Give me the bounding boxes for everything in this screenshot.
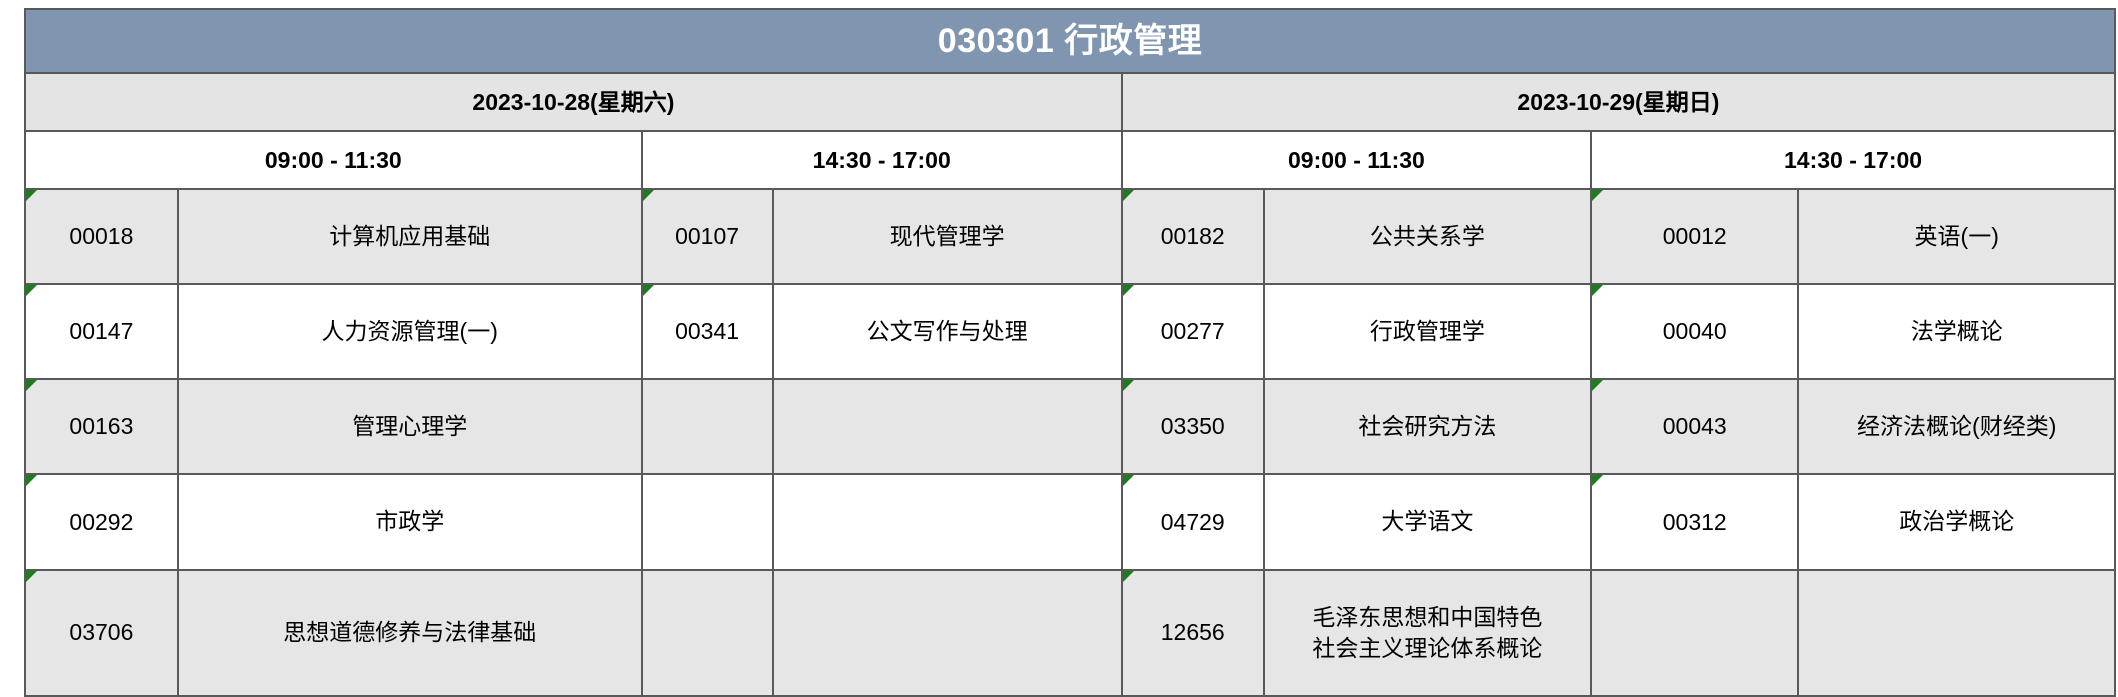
course-name-line: 管理心理学 xyxy=(179,411,641,442)
time-label-slot-4: 14:30 - 17:00 xyxy=(1784,147,1922,173)
course-name-line: 英语(一) xyxy=(1799,221,2114,252)
course-code-cell: 00182 xyxy=(1122,189,1264,284)
course-name: 现代管理学 xyxy=(774,192,1121,280)
date-label-day1: 2023-10-28(星期六) xyxy=(472,89,674,115)
course-code-cell: 00012 xyxy=(1591,189,1798,284)
time-label-slot-3: 09:00 - 11:30 xyxy=(1288,147,1425,173)
course-code: 00277 xyxy=(1161,318,1225,344)
course-name-line: 法学概论 xyxy=(1799,316,2114,347)
course-code-cell: 04729 xyxy=(1122,474,1264,569)
major-title-cell: 030301 行政管理 xyxy=(25,9,2115,73)
text-number-warning-icon xyxy=(643,190,654,201)
course-name: 毛泽东思想和中国特色社会主义理论体系概论 xyxy=(1265,573,1590,692)
course-code-cell: 00277 xyxy=(1122,284,1264,379)
course-code: 12656 xyxy=(1161,619,1225,645)
course-code-cell: 00107 xyxy=(642,189,773,284)
empty-cell xyxy=(1798,570,2115,696)
course-name-line: 社会主义理论体系概论 xyxy=(1265,633,1590,664)
course-name-cell: 公共关系学 xyxy=(1264,189,1591,284)
course-name: 管理心理学 xyxy=(179,382,641,470)
course-name-cell: 大学语文 xyxy=(1264,474,1591,569)
text-number-warning-icon xyxy=(1592,380,1603,391)
date-header-row: 2023-10-28(星期六) 2023-10-29(星期日) xyxy=(25,73,2115,131)
date-header-day2: 2023-10-29(星期日) xyxy=(1122,73,2115,131)
course-name-line: 市政学 xyxy=(179,506,641,537)
course-code: 00312 xyxy=(1663,509,1727,535)
text-number-warning-icon xyxy=(26,571,37,582)
table-row: 00292市政学04729大学语文00312政治学概论 xyxy=(25,474,2115,569)
course-code-cell: 00292 xyxy=(25,474,178,569)
course-code: 00018 xyxy=(69,223,133,249)
text-number-warning-icon xyxy=(26,380,37,391)
course-code-cell: 00312 xyxy=(1591,474,1798,569)
course-name-cell: 计算机应用基础 xyxy=(178,189,642,284)
course-name-cell: 管理心理学 xyxy=(178,379,642,474)
course-name-cell: 政治学概论 xyxy=(1798,474,2115,569)
course-name-line: 政治学概论 xyxy=(1799,506,2114,537)
course-code: 00043 xyxy=(1663,413,1727,439)
time-label-slot-1: 09:00 - 11:30 xyxy=(265,147,402,173)
course-name: 政治学概论 xyxy=(1799,477,2114,565)
course-name: 社会研究方法 xyxy=(1265,382,1590,470)
course-name: 思想道德修养与法律基础 xyxy=(179,588,641,676)
table-row: 03706思想道德修养与法律基础12656毛泽东思想和中国特色社会主义理论体系概… xyxy=(25,570,2115,696)
text-number-warning-icon xyxy=(1592,285,1603,296)
course-code-cell: 00163 xyxy=(25,379,178,474)
text-number-warning-icon xyxy=(26,285,37,296)
text-number-warning-icon xyxy=(26,475,37,486)
exam-schedule-table: 030301 行政管理 2023-10-28(星期六) 2023-10-29(星… xyxy=(24,8,2116,697)
course-code-cell: 00147 xyxy=(25,284,178,379)
table-row: 00163管理心理学03350社会研究方法00043经济法概论(财经类) xyxy=(25,379,2115,474)
date-header-day1: 2023-10-28(星期六) xyxy=(25,73,1122,131)
course-name-cell: 现代管理学 xyxy=(773,189,1122,284)
course-code: 00182 xyxy=(1161,223,1225,249)
empty-cell xyxy=(642,570,773,696)
course-code: 00163 xyxy=(69,413,133,439)
course-code: 03706 xyxy=(69,619,133,645)
course-code-cell: 03350 xyxy=(1122,379,1264,474)
course-name-line: 经济法概论(财经类) xyxy=(1799,411,2114,442)
course-name-line: 社会研究方法 xyxy=(1265,411,1590,442)
course-code: 04729 xyxy=(1161,509,1225,535)
course-name-line: 计算机应用基础 xyxy=(179,221,641,252)
exam-schedule-sheet: 030301 行政管理 2023-10-28(星期六) 2023-10-29(星… xyxy=(0,8,2118,574)
course-name-line: 人力资源管理(一) xyxy=(179,316,641,347)
course-name-cell: 市政学 xyxy=(178,474,642,569)
course-code-cell: 00341 xyxy=(642,284,773,379)
course-name: 大学语文 xyxy=(1265,477,1590,565)
text-number-warning-icon xyxy=(1123,285,1134,296)
course-code: 03350 xyxy=(1161,413,1225,439)
course-name-line: 行政管理学 xyxy=(1265,316,1590,347)
text-number-warning-icon xyxy=(1592,190,1603,201)
course-name: 行政管理学 xyxy=(1265,287,1590,375)
course-code-cell: 00040 xyxy=(1591,284,1798,379)
course-name: 英语(一) xyxy=(1799,192,2114,280)
course-name: 公共关系学 xyxy=(1265,192,1590,280)
course-code-cell: 03706 xyxy=(25,570,178,696)
time-header-row: 09:00 - 11:30 14:30 - 17:00 09:00 - 11:3… xyxy=(25,131,2115,189)
course-code: 00341 xyxy=(675,318,739,344)
text-number-warning-icon xyxy=(643,285,654,296)
time-header-slot-2: 14:30 - 17:00 xyxy=(642,131,1122,189)
time-header-slot-3: 09:00 - 11:30 xyxy=(1122,131,1591,189)
course-name-line: 大学语文 xyxy=(1265,506,1590,537)
course-code: 00107 xyxy=(675,223,739,249)
date-label-day2: 2023-10-29(星期日) xyxy=(1517,89,1719,115)
course-name-line: 现代管理学 xyxy=(774,221,1121,252)
course-code: 00147 xyxy=(69,318,133,344)
text-number-warning-icon xyxy=(1592,475,1603,486)
course-name-cell: 行政管理学 xyxy=(1264,284,1591,379)
text-number-warning-icon xyxy=(1123,190,1134,201)
course-name-cell: 公文写作与处理 xyxy=(773,284,1122,379)
course-name-cell: 法学概论 xyxy=(1798,284,2115,379)
course-name-line: 公共关系学 xyxy=(1265,221,1590,252)
course-name-cell: 毛泽东思想和中国特色社会主义理论体系概论 xyxy=(1264,570,1591,696)
course-name-line: 毛泽东思想和中国特色 xyxy=(1265,602,1590,633)
page-title: 030301 行政管理 xyxy=(938,22,1202,60)
empty-cell xyxy=(642,474,773,569)
text-number-warning-icon xyxy=(1123,571,1134,582)
course-code-cell: 12656 xyxy=(1122,570,1264,696)
table-row: 00018计算机应用基础00107现代管理学00182公共关系学00012英语(… xyxy=(25,189,2115,284)
text-number-warning-icon xyxy=(1123,475,1134,486)
course-code: 00040 xyxy=(1663,318,1727,344)
course-name-cell: 英语(一) xyxy=(1798,189,2115,284)
course-name: 计算机应用基础 xyxy=(179,192,641,280)
empty-cell xyxy=(773,379,1122,474)
text-number-warning-icon xyxy=(26,190,37,201)
time-label-slot-2: 14:30 - 17:00 xyxy=(813,147,951,173)
course-name: 经济法概论(财经类) xyxy=(1799,382,2114,470)
course-code-cell: 00043 xyxy=(1591,379,1798,474)
time-header-slot-1: 09:00 - 11:30 xyxy=(25,131,642,189)
course-code: 00012 xyxy=(1663,223,1727,249)
course-name-line: 思想道德修养与法律基础 xyxy=(179,617,641,648)
empty-cell xyxy=(642,379,773,474)
empty-cell xyxy=(1591,570,1798,696)
course-name: 人力资源管理(一) xyxy=(179,287,641,375)
course-name-cell: 社会研究方法 xyxy=(1264,379,1591,474)
empty-cell xyxy=(773,570,1122,696)
course-name-cell: 思想道德修养与法律基础 xyxy=(178,570,642,696)
course-name-cell: 人力资源管理(一) xyxy=(178,284,642,379)
text-number-warning-icon xyxy=(1123,380,1134,391)
title-row: 030301 行政管理 xyxy=(25,9,2115,73)
table-row: 00147人力资源管理(一)00341公文写作与处理00277行政管理学0004… xyxy=(25,284,2115,379)
course-code-cell: 00018 xyxy=(25,189,178,284)
course-code: 00292 xyxy=(69,509,133,535)
time-header-slot-4: 14:30 - 17:00 xyxy=(1591,131,2115,189)
course-name: 法学概论 xyxy=(1799,287,2114,375)
empty-cell xyxy=(773,474,1122,569)
course-name: 市政学 xyxy=(179,477,641,565)
course-name-line: 公文写作与处理 xyxy=(774,316,1121,347)
course-name-cell: 经济法概论(财经类) xyxy=(1798,379,2115,474)
course-name: 公文写作与处理 xyxy=(774,287,1121,375)
